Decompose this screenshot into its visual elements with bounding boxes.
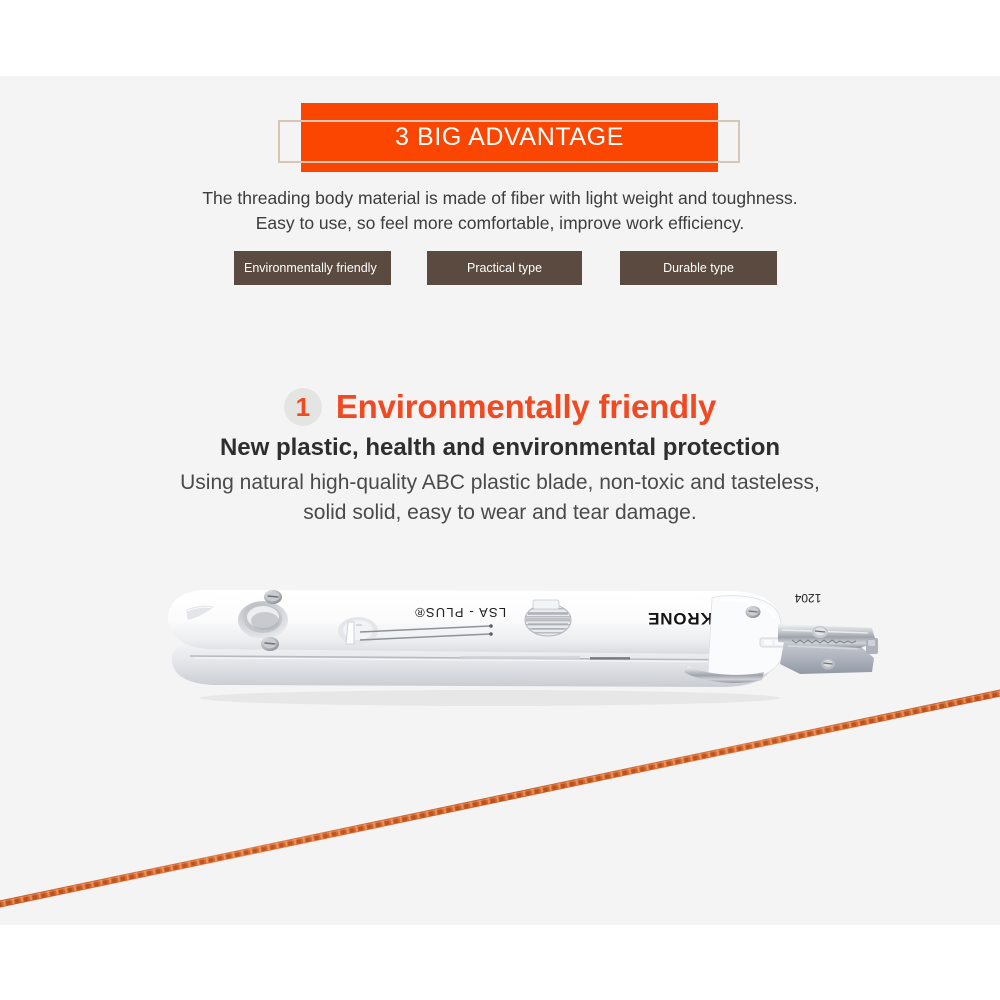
bottom-white-band: [0, 925, 1000, 1000]
banner-title: 3 BIG ADVANTAGE: [301, 103, 718, 172]
section-body: Using natural high-quality ABC plastic b…: [0, 468, 1000, 528]
intro-paragraph: The threading body material is made of f…: [0, 186, 1000, 236]
product-photo: LSA - PLUS® KRONE 1204 OFF SENSOR: [0, 540, 1000, 925]
tool-head-screw: [746, 606, 761, 618]
tool-head-block: [708, 596, 784, 678]
intro-line-2: Easy to use, so feel more comfortable, i…: [0, 211, 1000, 236]
chip-label: Environmentally friendly: [244, 261, 377, 275]
krone-punch-down-tool: LSA - PLUS® KRONE 1204 OFF SENSOR: [160, 580, 880, 710]
blade-screw: [812, 626, 828, 638]
chip-label: Practical type: [467, 261, 542, 275]
tool-screw-lower: [261, 637, 279, 651]
section-heading-row: 1 Environmentally friendly: [0, 382, 1000, 432]
chip-practical-type: Practical type: [427, 251, 582, 285]
section-number-badge: 1: [284, 388, 322, 426]
tool-part-number: 1204: [794, 591, 821, 605]
tool-brand-label: KRONE: [647, 609, 712, 628]
product-detail-page: 3 BIG ADVANTAGE The threading body mater…: [0, 0, 1000, 1000]
tool-model-label: LSA - PLUS®: [414, 605, 506, 620]
intro-line-1: The threading body material is made of f…: [0, 186, 1000, 211]
blade-holder-screw: [821, 659, 835, 670]
chip-durable-type: Durable type: [620, 251, 777, 285]
tool-screw-upper: [264, 590, 282, 604]
section-subheading: New plastic, health and environmental pr…: [0, 434, 1000, 462]
chip-environmentally-friendly: Environmentally friendly: [234, 251, 391, 285]
section-body-line-2: solid solid, easy to wear and tear damag…: [0, 498, 1000, 528]
chip-label: Durable type: [663, 261, 734, 275]
section-heading: Environmentally friendly: [336, 388, 716, 426]
advantage-chip-list: Environmentally friendly Practical type …: [0, 251, 1000, 285]
section-body-line-1: Using natural high-quality ABC plastic b…: [0, 468, 1000, 498]
